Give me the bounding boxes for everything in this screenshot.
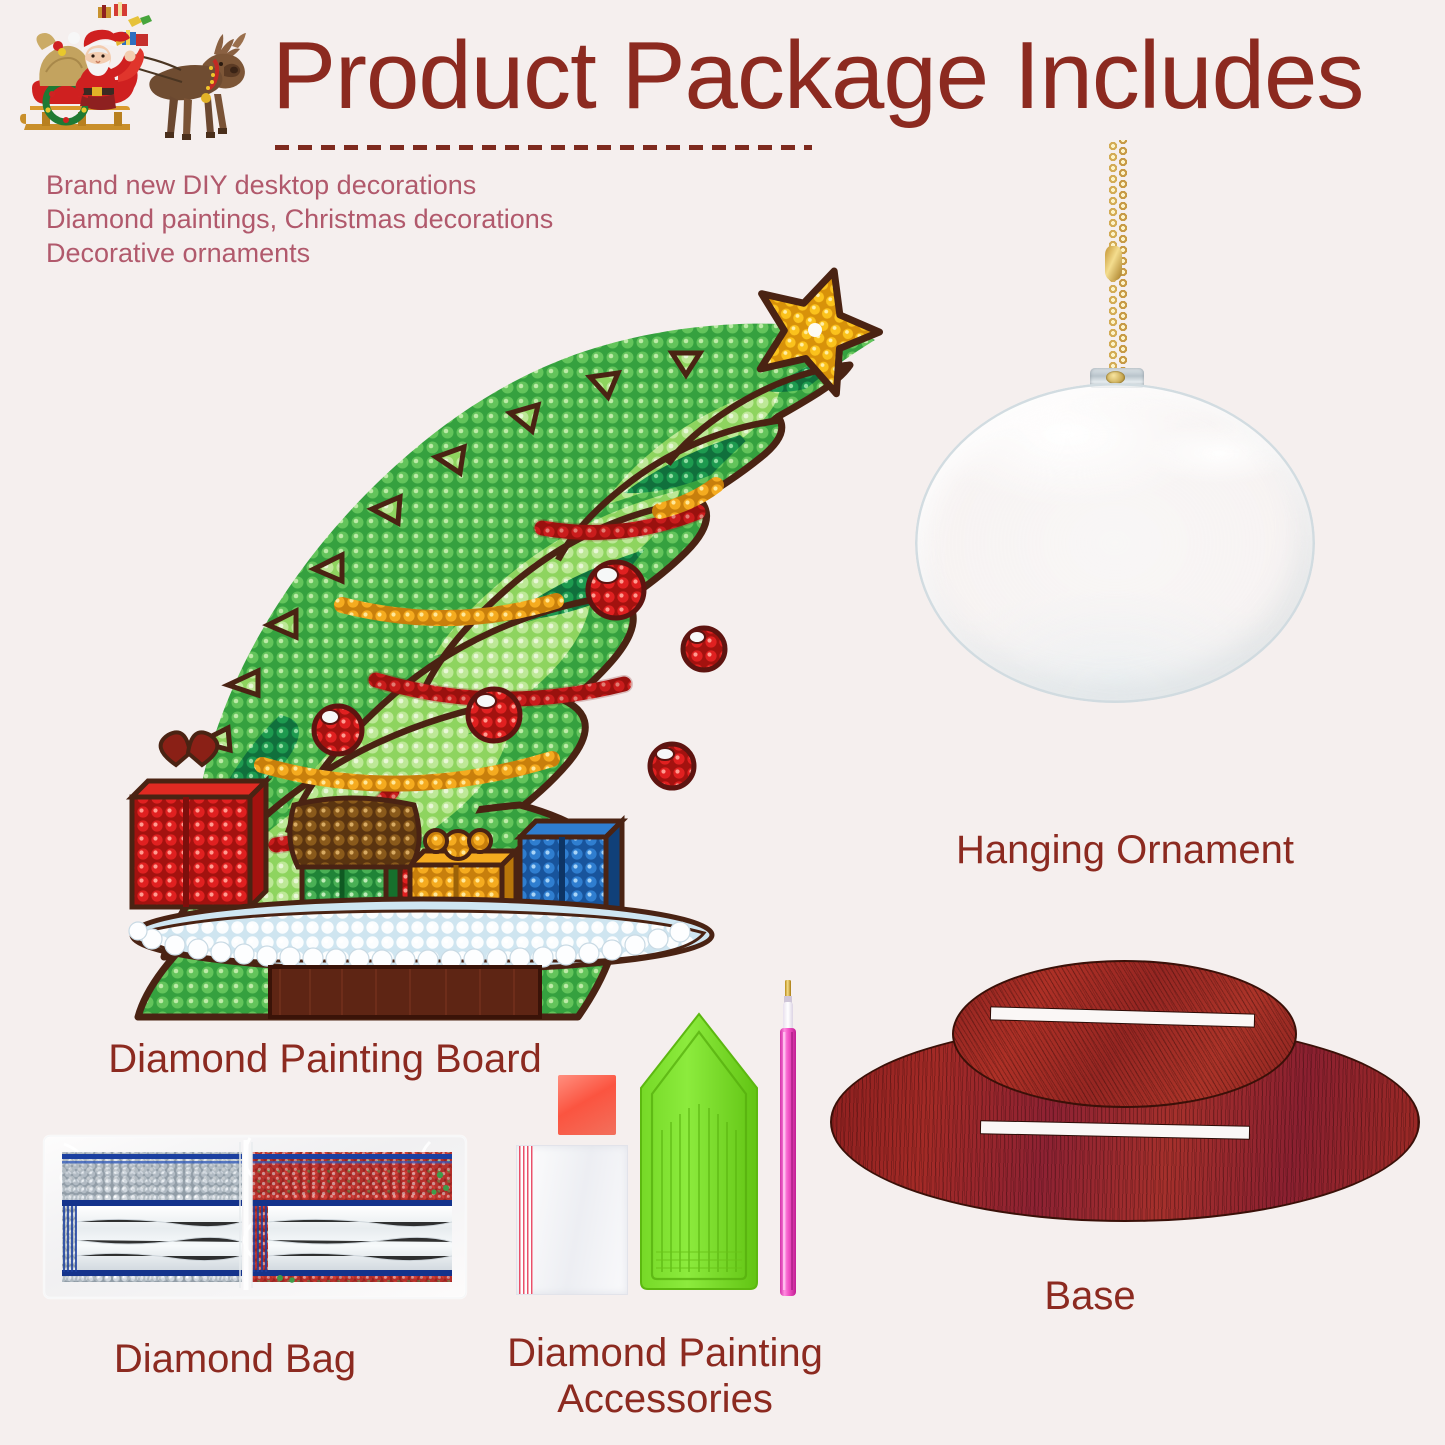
subtitle-line-2: Diamond paintings, Christmas decorations xyxy=(46,202,686,236)
santa-sleigh-reindeer-icon xyxy=(18,2,278,150)
caption-diamond-painting-accessories: Diamond Painting Accessories xyxy=(430,1330,900,1422)
base-oval-small xyxy=(952,960,1297,1108)
diamond-drill-bag-icon xyxy=(40,1130,470,1315)
zip-stripe xyxy=(519,1146,533,1294)
caption-accessories-line-1: Diamond Painting xyxy=(430,1330,900,1376)
red-wax-square-icon xyxy=(558,1075,616,1135)
caption-base: Base xyxy=(955,1272,1225,1320)
page-title: Product Package Includes xyxy=(272,24,1432,134)
title-divider xyxy=(275,145,812,150)
diamond-painting-accessories-icon xyxy=(500,975,820,1315)
chain-clasp-icon xyxy=(1105,246,1122,280)
caption-diamond-bag: Diamond Bag xyxy=(20,1335,450,1383)
christmas-tree-diamond-painting-icon xyxy=(80,245,910,1025)
pink-drill-pen-icon xyxy=(780,980,796,1296)
caption-hanging-ornament: Hanging Ornament xyxy=(880,826,1370,874)
green-drill-tray-icon xyxy=(638,1010,760,1292)
caption-accessories-line-2: Accessories xyxy=(430,1376,900,1422)
clear-zip-bag-icon xyxy=(516,1145,628,1295)
clear-ball-ornament-icon xyxy=(905,140,1325,810)
clear-ball-body xyxy=(915,383,1315,703)
wooden-oval-base-icon xyxy=(830,960,1425,1245)
subtitle-line-1: Brand new DIY desktop decorations xyxy=(46,168,686,202)
